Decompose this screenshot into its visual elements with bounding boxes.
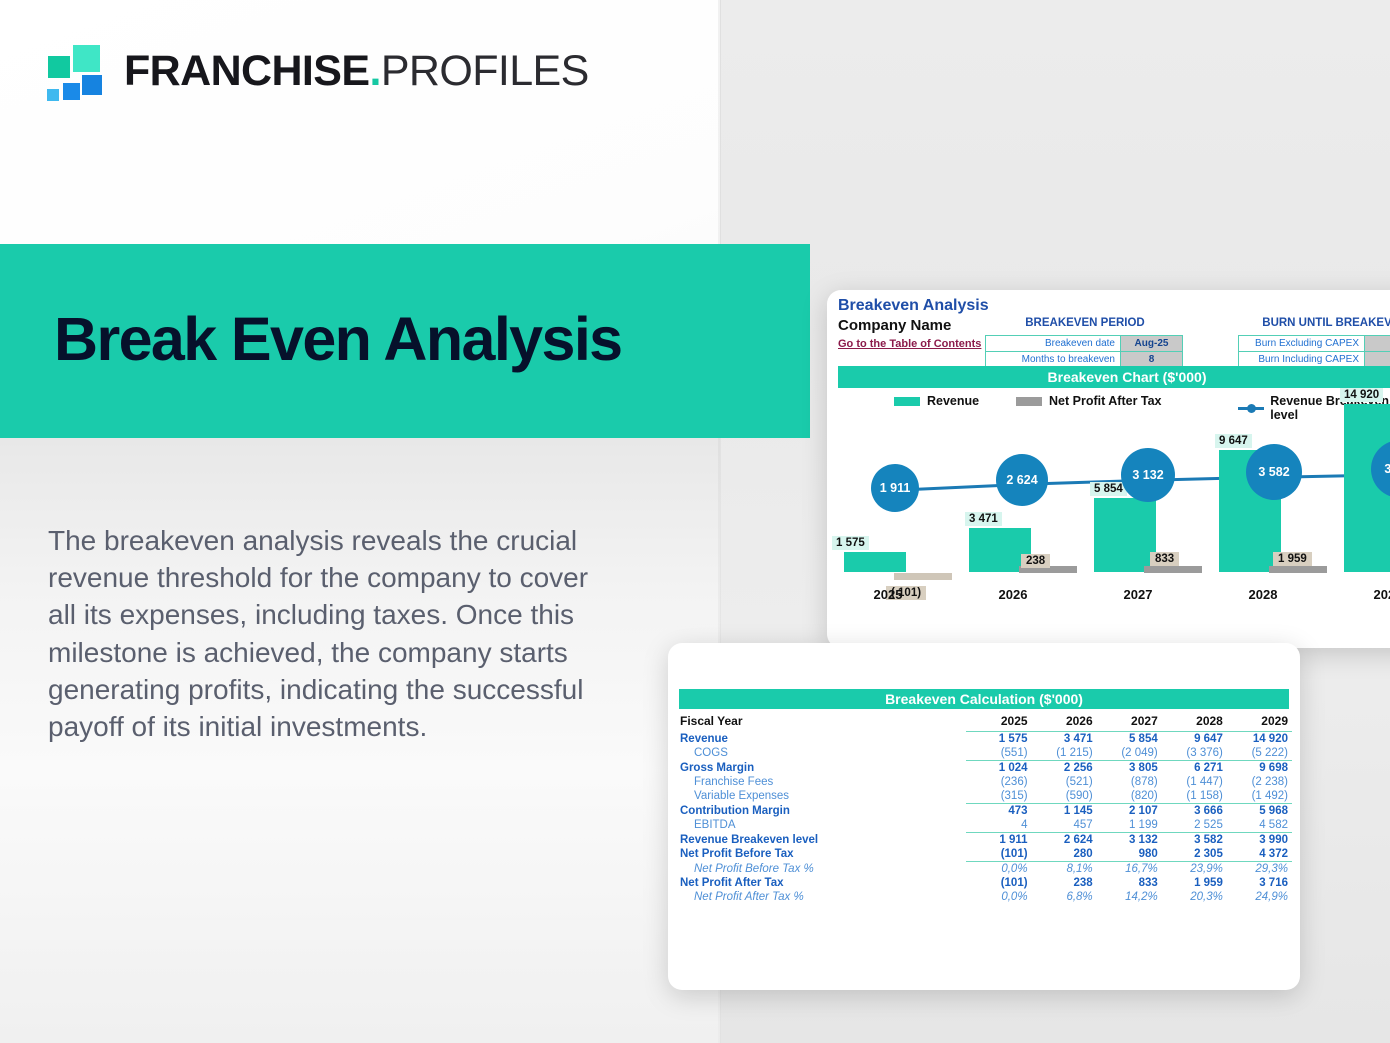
- cell-2029: (2 238): [1227, 775, 1292, 789]
- cell-2026: (590): [1032, 789, 1097, 804]
- cell-2029: 29,3%: [1227, 862, 1292, 877]
- row-label: Gross Margin: [676, 761, 966, 776]
- row-label: Net Profit After Tax %: [676, 890, 966, 904]
- cell-2026: 3 471: [1032, 732, 1097, 747]
- sheet-title: Breakeven Analysis: [838, 297, 989, 315]
- burn-until-breakeven-table: Burn Excluding CAPEX Burn Including CAPE…: [1238, 335, 1390, 368]
- table-row: Burn Excluding CAPEX: [1239, 336, 1390, 352]
- cell-2028: 20,3%: [1162, 890, 1227, 904]
- row-label: EBITDA: [676, 818, 966, 833]
- cell-2025: (101): [966, 847, 1031, 862]
- breakeven-bubble-2027[interactable]: 3 132: [1121, 448, 1175, 502]
- table-row: Net Profit After Tax(101)2388331 9593 71…: [676, 876, 1292, 890]
- breakeven-date-label: Breakeven date: [986, 336, 1121, 352]
- cell-2026: 1 145: [1032, 804, 1097, 819]
- x-axis-tick-2028: 2028: [1213, 587, 1313, 602]
- cell-2026: 2 624: [1032, 833, 1097, 848]
- cell-2029: 9 698: [1227, 761, 1292, 776]
- bar-revenue[interactable]: [1094, 498, 1156, 572]
- cell-2029: 24,9%: [1227, 890, 1292, 904]
- cell-2028: 3 582: [1162, 833, 1227, 848]
- chart-band-title: Breakeven Chart ($'000): [838, 366, 1390, 388]
- bar-label-revenue: 9 647: [1215, 434, 1252, 448]
- cell-2029: (1 492): [1227, 789, 1292, 804]
- cell-2027: 833: [1097, 876, 1162, 890]
- cell-2029: 14 920: [1227, 732, 1292, 747]
- breakeven-bubble-2025[interactable]: 1 911: [871, 464, 919, 512]
- column-header-2028: 2028: [1162, 713, 1227, 732]
- cell-2029: 4 372: [1227, 847, 1292, 862]
- cell-2025: 0,0%: [966, 862, 1031, 877]
- breakeven-calculation-card: Breakeven Calculation ($'000) Fiscal Yea…: [668, 643, 1300, 990]
- cell-2027: 16,7%: [1097, 862, 1162, 877]
- burn-excluding-capex-label: Burn Excluding CAPEX: [1239, 336, 1365, 352]
- bar-label-revenue: 1 575: [832, 536, 869, 550]
- cell-2027: 2 107: [1097, 804, 1162, 819]
- cell-2028: 23,9%: [1162, 862, 1227, 877]
- cell-2025: (236): [966, 775, 1031, 789]
- row-label: Franchise Fees: [676, 775, 966, 789]
- cell-2028: 1 959: [1162, 876, 1227, 890]
- legend-item-revenue: Revenue: [894, 394, 979, 408]
- cell-2026: 6,8%: [1032, 890, 1097, 904]
- cell-2025: 1 024: [966, 761, 1031, 776]
- table-row: Revenue1 5753 4715 8549 64714 920: [676, 732, 1292, 747]
- cell-2029: 3 990: [1227, 833, 1292, 848]
- table-band-title: Breakeven Calculation ($'000): [679, 689, 1289, 709]
- legend-label-npat: Net Profit After Tax: [1049, 394, 1162, 408]
- legend-swatch-revenue-icon: [894, 397, 920, 406]
- cell-2026: 457: [1032, 818, 1097, 833]
- logo-word-profiles: PROFILES: [381, 47, 589, 95]
- column-header-fiscal-year: Fiscal Year: [676, 713, 966, 732]
- breakeven-date-value: Aug-25: [1121, 336, 1183, 352]
- logo-square-sky: [47, 89, 59, 101]
- breakeven-period-table: Breakeven date Aug-25 Months to breakeve…: [985, 335, 1183, 368]
- x-axis-tick-2025: 2025: [838, 587, 938, 602]
- bar-label-revenue: 5 854: [1090, 482, 1127, 496]
- logo-square-blue-large: [82, 75, 102, 95]
- cell-2027: 14,2%: [1097, 890, 1162, 904]
- cell-2027: 1 199: [1097, 818, 1162, 833]
- table-row: Net Profit Before Tax(101)2809802 3054 3…: [676, 847, 1292, 862]
- legend-swatch-npat-icon: [1016, 397, 1042, 406]
- cell-2028: 2 305: [1162, 847, 1227, 862]
- legend-item-net-profit-after-tax: Net Profit After Tax: [1016, 394, 1162, 408]
- breakeven-calculation-table: Fiscal Year20252026202720282029Revenue1 …: [676, 713, 1292, 904]
- page-title: Break Even Analysis: [54, 304, 622, 374]
- column-header-2026: 2026: [1032, 713, 1097, 732]
- bar-label-revenue: 3 471: [965, 512, 1002, 526]
- table-row: Breakeven date Aug-25: [986, 336, 1183, 352]
- x-axis-tick-2027: 2027: [1088, 587, 1188, 602]
- column-header-2025: 2025: [966, 713, 1031, 732]
- chart-legend: Revenue Net Profit After Tax Revenue Bre…: [838, 394, 1390, 410]
- cell-2026: 280: [1032, 847, 1097, 862]
- cell-2028: 2 525: [1162, 818, 1227, 833]
- hero-paragraph: The breakeven analysis reveals the cruci…: [48, 522, 618, 745]
- cell-2025: 473: [966, 804, 1031, 819]
- row-label: Revenue: [676, 732, 966, 747]
- cell-2027: 3 805: [1097, 761, 1162, 776]
- cell-2028: (3 376): [1162, 746, 1227, 761]
- row-label: Variable Expenses: [676, 789, 966, 804]
- bar-net-profit-after-tax[interactable]: [1269, 566, 1327, 573]
- breakeven-chart-card: Breakeven Analysis Company Name Go to th…: [827, 290, 1390, 648]
- row-label: Net Profit Before Tax %: [676, 862, 966, 877]
- legend-swatch-breakeven-line-icon: [1238, 404, 1263, 413]
- table-of-contents-link[interactable]: Go to the Table of Contents: [838, 338, 981, 350]
- cell-2028: (1 447): [1162, 775, 1227, 789]
- logo-wordmark: FRANCHISE.PROFILES: [124, 50, 589, 93]
- row-label: COGS: [676, 746, 966, 761]
- bar-revenue[interactable]: [844, 552, 906, 572]
- bar-net-profit-after-tax[interactable]: [894, 573, 952, 580]
- cell-2029: 3 716: [1227, 876, 1292, 890]
- cell-2027: (820): [1097, 789, 1162, 804]
- logo-square-teal-light: [73, 45, 100, 72]
- cell-2026: (1 215): [1032, 746, 1097, 761]
- logo-squares-icon: [46, 42, 108, 100]
- burn-until-breakeven-heading: BURN UNTIL BREAKEVEN: [1225, 317, 1390, 329]
- row-label: Revenue Breakeven level: [676, 833, 966, 848]
- breakeven-bubble-2028[interactable]: 3 582: [1246, 444, 1302, 500]
- table-row: Franchise Fees(236)(521)(878)(1 447)(2 2…: [676, 775, 1292, 789]
- brand-logo: FRANCHISE.PROFILES: [46, 42, 589, 100]
- cell-2026: 238: [1032, 876, 1097, 890]
- logo-word-franchise: FRANCHISE: [124, 47, 369, 95]
- row-label: Net Profit After Tax: [676, 876, 966, 890]
- table-row: EBITDA44571 1992 5254 582: [676, 818, 1292, 833]
- cell-2028: (1 158): [1162, 789, 1227, 804]
- cell-2027: (2 049): [1097, 746, 1162, 761]
- bar-net-profit-after-tax[interactable]: [1144, 566, 1202, 573]
- cell-2029: 5 968: [1227, 804, 1292, 819]
- cell-2026: (521): [1032, 775, 1097, 789]
- cell-2028: 3 666: [1162, 804, 1227, 819]
- row-label: Contribution Margin: [676, 804, 966, 819]
- cell-2025: 1 911: [966, 833, 1031, 848]
- company-name: Company Name: [838, 317, 951, 334]
- cell-2026: 2 256: [1032, 761, 1097, 776]
- cell-2027: 5 854: [1097, 732, 1162, 747]
- table-row: Net Profit Before Tax %0,0%8,1%16,7%23,9…: [676, 862, 1292, 877]
- table-row: Variable Expenses(315)(590)(820)(1 158)(…: [676, 789, 1292, 804]
- cell-2025: 1 575: [966, 732, 1031, 747]
- cell-2028: 9 647: [1162, 732, 1227, 747]
- cell-2029: 4 582: [1227, 818, 1292, 833]
- cell-2025: 0,0%: [966, 890, 1031, 904]
- cell-2027: 3 132: [1097, 833, 1162, 848]
- chart-plot-area: 1 575 ( 101) 1 911 3 471 238 2 624 5 854…: [838, 418, 1390, 608]
- table-header-row: Fiscal Year20252026202720282029: [676, 713, 1292, 732]
- logo-square-teal-dark: [48, 56, 70, 78]
- column-header-2027: 2027: [1097, 713, 1162, 732]
- table-row: Revenue Breakeven level1 9112 6243 1323 …: [676, 833, 1292, 848]
- cell-2026: 8,1%: [1032, 862, 1097, 877]
- cell-2025: (551): [966, 746, 1031, 761]
- cell-2028: 6 271: [1162, 761, 1227, 776]
- table-row: Contribution Margin4731 1452 1073 6665 9…: [676, 804, 1292, 819]
- table-row: Net Profit After Tax %0,0%6,8%14,2%20,3%…: [676, 890, 1292, 904]
- column-header-2029: 2029: [1227, 713, 1292, 732]
- legend-label-revenue: Revenue: [927, 394, 979, 408]
- row-label: Net Profit Before Tax: [676, 847, 966, 862]
- breakeven-bubble-2026[interactable]: 2 624: [996, 454, 1048, 506]
- x-axis-tick-2026: 2026: [963, 587, 1063, 602]
- cell-2025: (315): [966, 789, 1031, 804]
- bar-label-npat: 833: [1150, 552, 1179, 566]
- bar-label-npat: 238: [1021, 554, 1050, 568]
- table-row: COGS(551)(1 215)(2 049)(3 376)(5 222): [676, 746, 1292, 761]
- cell-2025: 4: [966, 818, 1031, 833]
- cell-2027: (878): [1097, 775, 1162, 789]
- logo-square-blue-small: [63, 83, 80, 100]
- bar-label-revenue: 14 920: [1340, 388, 1383, 402]
- table-row: Gross Margin1 0242 2563 8056 2719 698: [676, 761, 1292, 776]
- cell-2029: (5 222): [1227, 746, 1292, 761]
- logo-dot: .: [369, 47, 380, 95]
- x-axis-tick-2029: 2029: [1338, 587, 1390, 602]
- burn-excluding-capex-value: [1365, 336, 1390, 352]
- breakeven-period-heading: BREAKEVEN PERIOD: [985, 317, 1185, 329]
- cell-2027: 980: [1097, 847, 1162, 862]
- bar-label-npat: 1 959: [1273, 552, 1312, 566]
- cell-2025: (101): [966, 876, 1031, 890]
